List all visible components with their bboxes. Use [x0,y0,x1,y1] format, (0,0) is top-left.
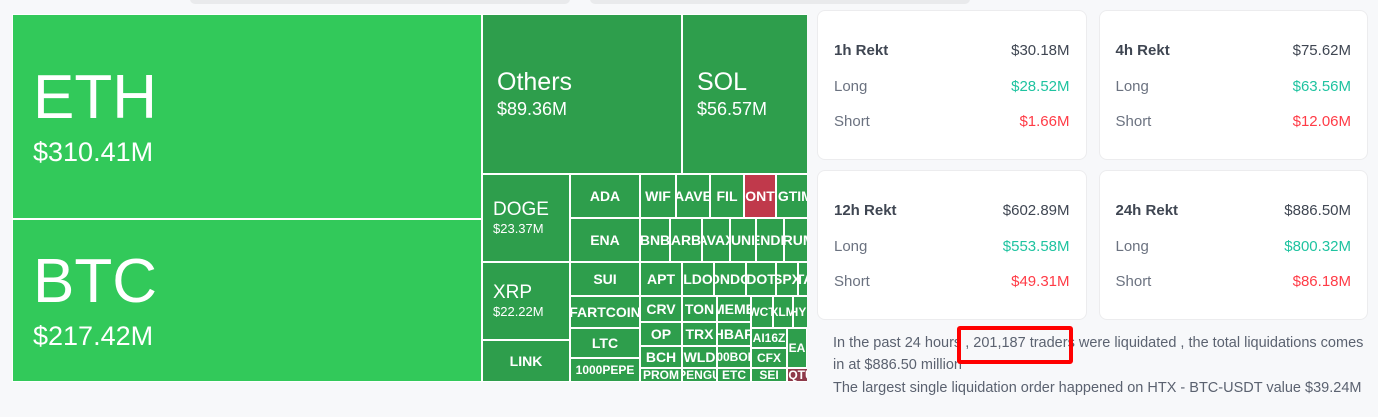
tile-symbol: DOGE [483,200,569,220]
tile-symbol: TRX [683,327,717,342]
treemap-tile-ai16z[interactable]: AI16Z [751,328,787,348]
tile-symbol: PROM [641,369,681,382]
tile-symbol: UNI [730,233,756,248]
tile-symbol: Others [483,69,681,95]
treemap-tile-hype[interactable]: HYPE [793,296,807,328]
tile-symbol: ARB [670,233,702,248]
tile-symbol: WIF [642,189,674,204]
treemap-tile-prom[interactable]: PROM [640,368,682,382]
treemap-tile-etc[interactable]: ETC [717,368,751,382]
treemap-tile-crv[interactable]: CRV [640,296,682,322]
tile-symbol: BCH [643,350,679,365]
rekt-row-total: 12h Rekt$602.89M [834,202,1070,219]
rekt-row-short: Short$49.31M [834,273,1070,290]
liquidation-summary: In the past 24 hours , 201,187 traders w… [817,332,1368,399]
treemap-tile-wld[interactable]: WLD [682,346,717,368]
treemap-tile-ada[interactable]: ADA [570,174,640,218]
tile-value: $217.42M [13,321,481,352]
tile-value: $310.41M [13,137,481,168]
summary-line-1: In the past 24 hours , 201,187 traders w… [833,332,1368,377]
rekt-row-long: Long$553.58M [834,238,1070,255]
row-label: Short [1116,113,1152,130]
tile-symbol: PENGU [682,369,717,382]
treemap-tile-others[interactable]: Others$89.36M [482,14,682,174]
tile-symbol: SEI [757,369,780,382]
tile-symbol: BIGTIME [776,189,807,204]
row-value: $1.66M [1019,113,1069,130]
tile-symbol: SOL [683,69,807,95]
rekt-row-short: Short$86.18M [1116,273,1352,290]
row-value: $30.18M [1011,42,1069,59]
treemap-tile-bch[interactable]: BCH [640,346,682,368]
treemap-tile-ltc[interactable]: LTC [570,328,640,358]
tile-value: $89.36M [483,99,681,120]
treemap-tile-ondo[interactable]: ONDO [714,262,746,296]
treemap-tile-ont[interactable]: ONT [744,174,776,218]
treemap-tile-fil[interactable]: FIL [710,174,744,218]
row-value: $28.52M [1011,78,1069,95]
treemap[interactable]: ETH$310.41MBTC$217.42MOthers$89.36MSOL$5… [12,14,807,382]
treemap-tile-1000pepe[interactable]: 1000PEPE [570,358,640,382]
tile-symbol: 1000BONK [717,351,751,364]
tile-symbol: LDO [682,272,714,287]
row-label: Long [834,78,867,95]
rekt-card-grid: 1h Rekt$30.18MLong$28.52MShort$1.66M4h R… [817,10,1368,320]
rekt-stats-panel: 1h Rekt$30.18MLong$28.52MShort$1.66M4h R… [807,0,1378,417]
treemap-tile-bigtime[interactable]: BIGTIME [776,174,807,218]
tile-symbol: DOT [746,272,776,287]
treemap-tile-op[interactable]: OP [640,322,682,346]
tile-symbol: MEME [717,302,751,317]
treemap-tile-hbar[interactable]: HBAR [717,322,751,346]
tile-symbol: FIL [714,189,741,204]
tile-symbol: LTC [589,336,621,351]
row-value: $49.31M [1011,273,1069,290]
treemap-tile-btc[interactable]: BTC$217.42M [12,219,482,382]
treemap-tile-dot[interactable]: DOT [746,262,776,296]
tile-symbol: XLM [773,306,793,319]
treemap-tile-bnb[interactable]: BNB [640,218,670,262]
tile-symbol: FARTCOIN [570,305,640,320]
treemap-tile-eth[interactable]: ETH$310.41M [12,14,482,219]
tile-value: $23.37M [483,222,569,237]
tile-symbol: OP [648,327,674,342]
rekt-card-4h: 4h Rekt$75.62MLong$63.56MShort$12.06M [1099,10,1369,160]
treemap-tile-ena[interactable]: ENA [570,218,640,262]
row-label: 12h Rekt [834,202,897,219]
rekt-card-1h: 1h Rekt$30.18MLong$28.52MShort$1.66M [817,10,1087,160]
rekt-row-total: 1h Rekt$30.18M [834,42,1070,59]
treemap-tile-trx[interactable]: TRX [682,322,717,346]
treemap-tile-wif[interactable]: WIF [640,174,676,218]
treemap-tile-near[interactable]: NEAR [787,328,807,368]
row-label: Long [1116,78,1149,95]
tile-symbol: QTUM [787,369,807,382]
treemap-tile-wct[interactable]: WCT [751,296,773,328]
tile-symbol: TON [682,302,717,317]
rekt-card-12h: 12h Rekt$602.89MLong$553.58MShort$49.31M [817,170,1087,320]
summary-line-2: The largest single liquidation order hap… [833,377,1368,399]
tile-symbol: AVAX [702,233,730,248]
tile-symbol: LINK [507,354,546,369]
treemap-tile-tao[interactable]: TAO [798,262,807,296]
treemap-tile-fartcoin[interactable]: FARTCOIN [570,296,640,328]
row-value: $553.58M [1003,238,1070,255]
tile-symbol: APT [644,272,678,287]
row-value: $75.62M [1293,42,1351,59]
rekt-row-short: Short$1.66M [834,113,1070,130]
row-label: 4h Rekt [1116,42,1170,59]
treemap-tile-uni[interactable]: UNI [730,218,756,262]
tile-symbol: ETC [720,369,748,382]
dashboard-root: ETH$310.41MBTC$217.42MOthers$89.36MSOL$5… [0,0,1378,417]
treemap-tile-pengu[interactable]: PENGU [682,368,717,382]
treemap-tile-spx[interactable]: SPX [776,262,798,296]
tile-symbol: XRP [483,283,569,303]
rekt-row-total: 24h Rekt$886.50M [1116,202,1352,219]
treemap-tile-pendle[interactable]: PENDLE [756,218,784,262]
tile-symbol: AAVE [676,189,710,204]
treemap-tile-trump[interactable]: TRUMP [784,218,807,262]
treemap-tile-arb[interactable]: ARB [670,218,702,262]
tile-symbol: ONDO [714,272,746,287]
treemap-tile-link[interactable]: LINK [482,340,570,382]
treemap-tile-ldo[interactable]: LDO [682,262,714,296]
tile-symbol: WCT [751,306,773,319]
tile-symbol: SPX [776,272,798,287]
treemap-tile-sui[interactable]: SUI [570,262,640,296]
tile-symbol: TAO [798,272,807,287]
tile-symbol: ENA [587,233,623,248]
tile-value: $56.57M [683,99,807,120]
row-value: $602.89M [1003,202,1070,219]
treemap-tile-sei[interactable]: SEI [751,368,787,382]
treemap-tile-meme[interactable]: MEME [717,296,751,322]
tile-symbol: BTC [13,249,481,314]
treemap-tile-doge[interactable]: DOGE$23.37M [482,174,570,262]
rekt-row-long: Long$800.32M [1116,238,1352,255]
liquidation-treemap-panel: ETH$310.41MBTC$217.42MOthers$89.36MSOL$5… [0,0,807,417]
row-label: Long [1116,238,1149,255]
row-label: 24h Rekt [1116,202,1179,219]
rekt-row-long: Long$63.56M [1116,78,1352,95]
row-value: $800.32M [1284,238,1351,255]
tile-symbol: AI16Z [751,332,787,345]
row-label: Short [1116,273,1152,290]
row-value: $886.50M [1284,202,1351,219]
tile-symbol: WLD [682,350,717,365]
tile-symbol: ETH [13,65,481,130]
treemap-tile-cfx[interactable]: CFX [751,348,787,368]
rekt-card-24h: 24h Rekt$886.50MLong$800.32MShort$86.18M [1099,170,1369,320]
row-label: Short [834,273,870,290]
tile-symbol: ADA [587,189,623,204]
rekt-row-short: Short$12.06M [1116,113,1352,130]
tile-symbol: CFX [755,352,783,365]
tile-symbol: BNB [640,233,670,248]
treemap-tile-ton[interactable]: TON [682,296,717,322]
row-value: $63.56M [1293,78,1351,95]
tile-symbol: SUI [590,272,619,287]
rekt-row-total: 4h Rekt$75.62M [1116,42,1352,59]
row-label: Long [834,238,867,255]
tile-symbol: NEAR [787,342,807,355]
rekt-row-long: Long$28.52M [834,78,1070,95]
tile-symbol: ONT [744,189,776,204]
tile-symbol: PENDLE [756,233,784,248]
treemap-tile-xlm[interactable]: XLM [773,296,793,328]
tile-symbol: HBAR [717,327,751,342]
tile-symbol: TRUMP [784,233,807,248]
treemap-tile-xrp[interactable]: XRP$22.22M [482,262,570,340]
tile-value: $22.22M [483,305,569,320]
row-value: $86.18M [1293,273,1351,290]
treemap-tile-aave[interactable]: AAVE [676,174,710,218]
tile-symbol: HYPE [793,306,807,319]
treemap-tile-sol[interactable]: SOL$56.57M [682,14,807,174]
tile-symbol: CRV [643,302,678,317]
tile-symbol: 1000PEPE [574,364,637,377]
row-value: $12.06M [1293,113,1351,130]
row-label: Short [834,113,870,130]
row-label: 1h Rekt [834,42,888,59]
treemap-tile-1000bonk[interactable]: 1000BONK [717,346,751,368]
treemap-tile-apt[interactable]: APT [640,262,682,296]
treemap-tile-avax[interactable]: AVAX [702,218,730,262]
treemap-tile-qtum[interactable]: QTUM [787,368,807,382]
